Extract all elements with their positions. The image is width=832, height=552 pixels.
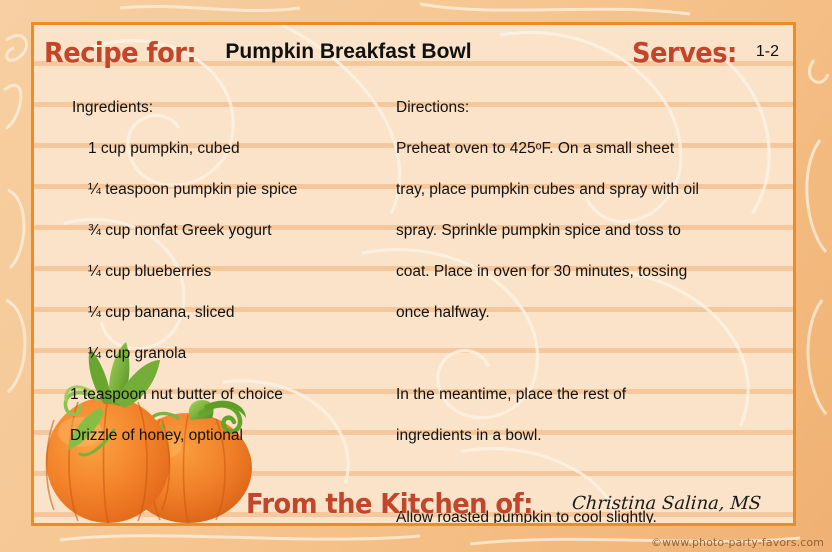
ingredient-item: Drizzle of honey, optional [70,415,386,456]
ingredient-item: ¼ cup granola [88,333,386,374]
directions-column: Directions: Preheat oven to 425ᵒF. On a … [386,81,793,499]
serves-value: 1-2 [756,43,779,61]
ingredient-item: 1 teaspoon nut butter of choice [70,374,386,415]
direction-spacer [396,333,775,374]
signature-text: Christina Salina, MS [571,493,762,514]
directions-heading: Directions: [396,87,775,128]
page-title: Pumpkin Breakfast Bowl [225,40,471,64]
from-kitchen-label: From the Kitchen of: [246,487,533,520]
direction-line: In the meantime, place the rest of [396,374,775,415]
ingredient-item: ¼ cup blueberries [88,251,386,292]
serves-label: Serves: [632,36,737,69]
direction-line: tray, place pumpkin cubes and spray with… [396,169,775,210]
recipe-card: Recipe for: Pumpkin Breakfast Bowl Serve… [0,0,832,552]
ingredient-item: ¾ cup nonfat Greek yogurt [88,210,386,251]
direction-line: coat. Place in oven for 30 minutes, toss… [396,251,775,292]
card-footer: From the Kitchen of: Christina Salina, M… [34,483,793,523]
card-header: Recipe for: Pumpkin Breakfast Bowl Serve… [34,25,793,79]
ingredients-column: Ingredients: 1 cup pumpkin, cubed ¼ teas… [34,81,386,499]
card-inner-panel: Recipe for: Pumpkin Breakfast Bowl Serve… [31,22,796,526]
ingredient-item: ¼ cup banana, sliced [88,292,386,333]
copyright-watermark: ©www.photo-party-favors.com [651,536,824,549]
direction-line: ingredients in a bowl. [396,415,775,456]
direction-line: once halfway. [396,292,775,333]
ingredient-item: ¼ teaspoon pumpkin pie spice [88,169,386,210]
direction-line: Preheat oven to 425ᵒF. On a small sheet [396,128,775,169]
card-body: Ingredients: 1 cup pumpkin, cubed ¼ teas… [34,81,793,499]
recipe-for-label: Recipe for: [44,36,196,69]
ingredient-item: 1 cup pumpkin, cubed [88,128,386,169]
ingredients-heading: Ingredients: [72,87,386,128]
direction-line: spray. Sprinkle pumpkin spice and toss t… [396,210,775,251]
